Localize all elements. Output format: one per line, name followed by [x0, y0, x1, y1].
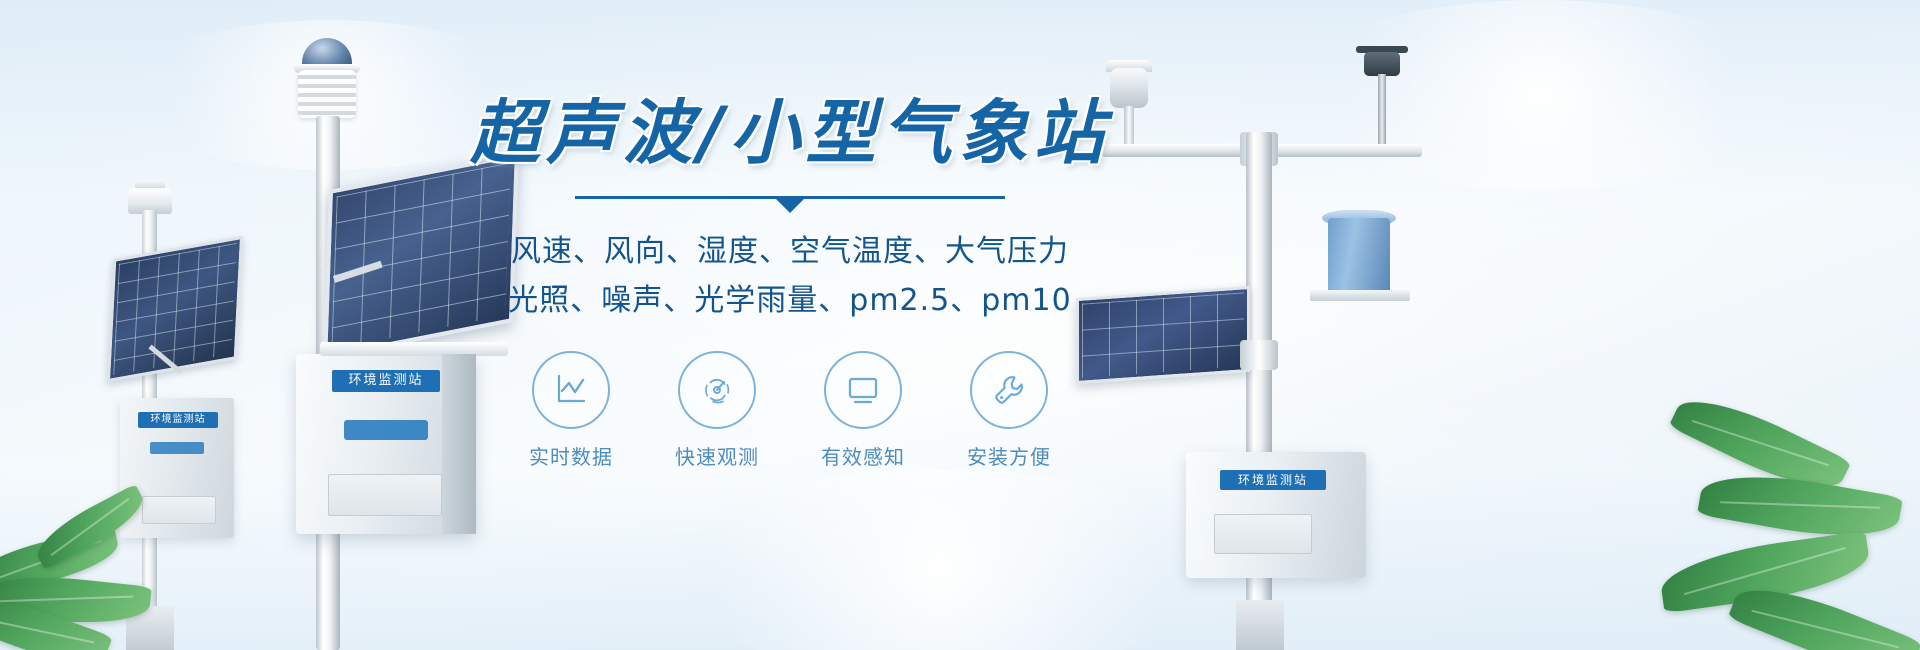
- feature-icon-circle: [970, 351, 1048, 429]
- feature-label: 快速观测: [662, 441, 772, 470]
- feature-label: 有效感知: [808, 441, 918, 470]
- cabinet-badge: [332, 370, 440, 392]
- subtitle-block: 风速、风向、湿度、空气温度、大气压力 光照、噪声、光学雨量、pm2.5、pm10: [430, 228, 1150, 325]
- banner-content: 超声波/小型气象站 风速、风向、湿度、空气温度、大气压力 光照、噪声、光学雨量、…: [430, 96, 1150, 470]
- cabinet-badge: [138, 412, 218, 428]
- cabinet-vent: [1214, 514, 1312, 554]
- solar-panel: [107, 236, 243, 382]
- brand-logo: [344, 420, 428, 440]
- page-title: 超声波/小型气象站: [430, 96, 1150, 170]
- product-banner: 超声波/小型气象站 风速、风向、湿度、空气温度、大气压力 光照、噪声、光学雨量、…: [0, 0, 1920, 650]
- line-chart-icon: [552, 371, 590, 409]
- subtitle-line-1: 风速、风向、湿度、空气温度、大气压力: [430, 228, 1150, 277]
- feature-icon-circle: [532, 351, 610, 429]
- feature-item-easy-installation[interactable]: 安装方便: [954, 351, 1064, 470]
- feature-label: 安装方便: [954, 441, 1064, 470]
- subtitle-line-2: 光照、噪声、光学雨量、pm2.5、pm10: [430, 277, 1150, 326]
- cabinet-vent: [328, 474, 442, 516]
- feature-item-fast-observation[interactable]: 快速观测: [662, 351, 772, 470]
- feature-icon-circle: [824, 351, 902, 429]
- feature-item-realtime-data[interactable]: 实时数据: [516, 351, 626, 470]
- feature-icon-circle: [678, 351, 756, 429]
- monitor-display-icon: [844, 371, 882, 409]
- feature-label: 实时数据: [516, 441, 626, 470]
- anemometer-pole: [1378, 74, 1386, 146]
- foliage-left: [0, 450, 200, 650]
- anemometer-head: [1364, 52, 1400, 76]
- radar-sensor-icon: [698, 371, 736, 409]
- mast-collar-lower: [1240, 340, 1278, 370]
- equipment-shelf: [1310, 290, 1410, 301]
- cabinet-badge: [1220, 470, 1326, 490]
- feature-item-effective-sensing[interactable]: 有效感知: [808, 351, 918, 470]
- control-cabinet: [1186, 452, 1366, 578]
- station-base: [1236, 600, 1284, 650]
- title-divider: [575, 196, 1005, 214]
- foliage-right: [1640, 380, 1920, 650]
- divider-triangle-icon: [776, 199, 804, 213]
- feature-list: 实时数据 快速观测: [430, 351, 1150, 470]
- rain-gauge: [1328, 218, 1390, 292]
- wrench-icon: [990, 371, 1028, 409]
- radiation-shield: [298, 70, 356, 118]
